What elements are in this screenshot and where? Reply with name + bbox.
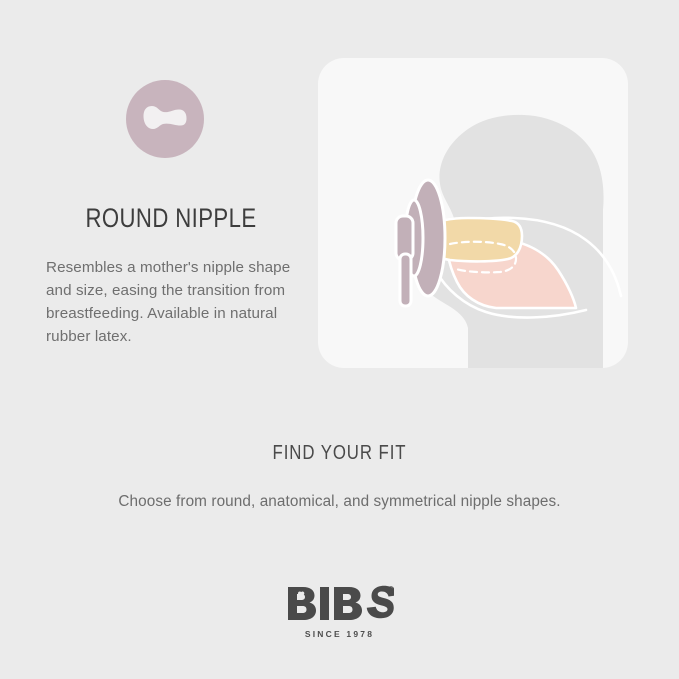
find-your-fit-section: FIND YOUR FIT Choose from round, anatomi…	[0, 442, 679, 511]
brand-logo: R SINCE 1978	[0, 585, 679, 639]
feature-title: ROUND NIPPLE	[69, 204, 274, 234]
brand-tagline: SINCE 1978	[0, 629, 679, 639]
illustration-card	[318, 58, 628, 368]
find-your-fit-description: Choose from round, anatomical, and symme…	[0, 493, 679, 511]
round-nipple-shape-icon	[126, 80, 204, 158]
feature-column: ROUND NIPPLE Resembles a mother's nipple…	[46, 80, 296, 348]
feature-description: Resembles a mother's nipple shape and si…	[46, 256, 296, 348]
find-your-fit-title: FIND YOUR FIT	[54, 442, 624, 465]
product-feature-panel: ROUND NIPPLE Resembles a mother's nipple…	[0, 0, 679, 679]
nipple-shape-cutout-icon	[142, 103, 188, 135]
baby-mouth-cross-section-diagram	[318, 58, 628, 368]
bibs-wordmark-logo: R	[286, 585, 394, 621]
pacifier-ring-handle	[400, 254, 411, 306]
